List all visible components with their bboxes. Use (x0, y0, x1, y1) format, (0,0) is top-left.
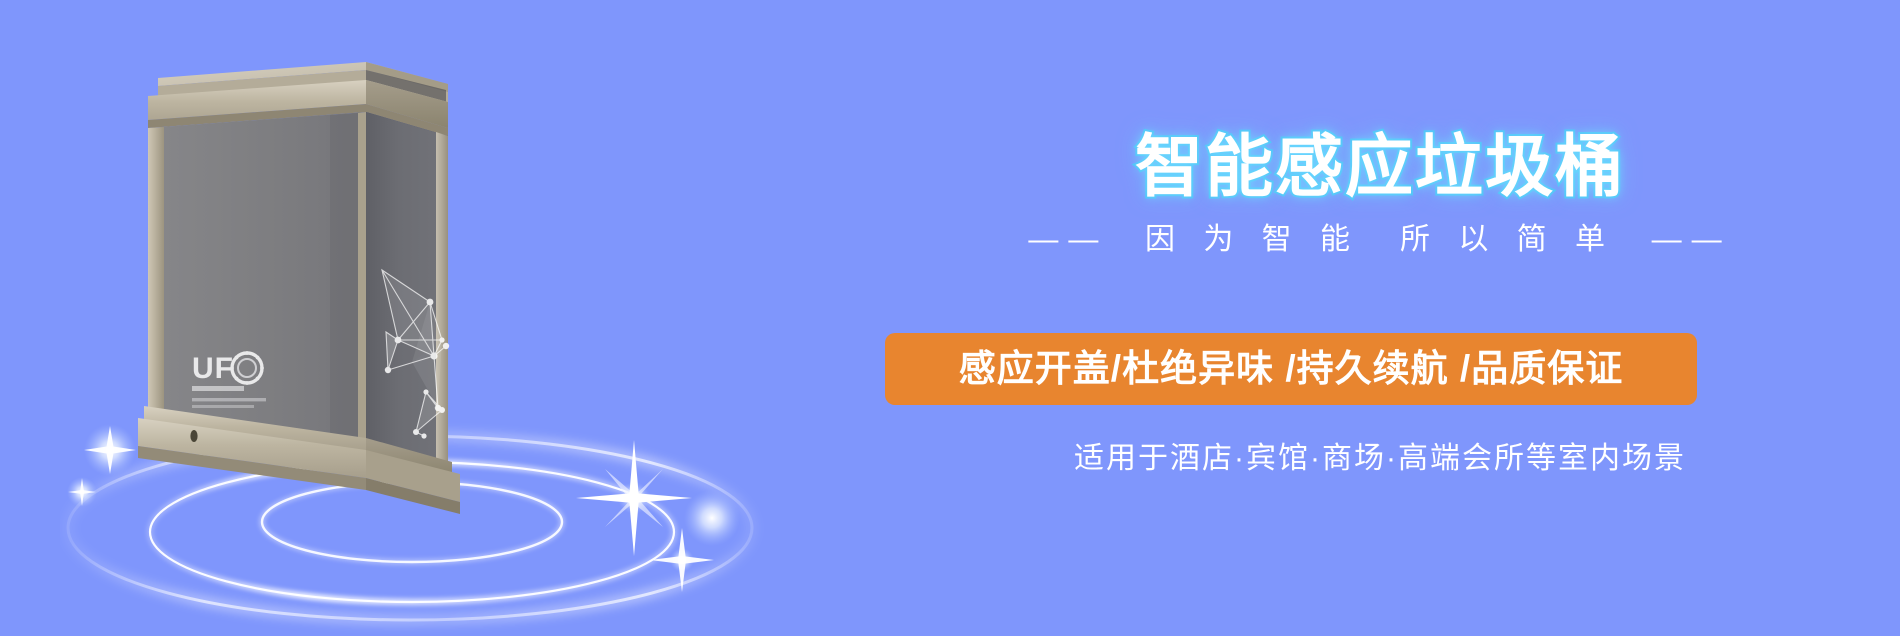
sparkle-left-top (84, 424, 136, 476)
page-title: 智能感应垃圾桶 (860, 128, 1900, 206)
sensor-port (190, 430, 197, 442)
subtitle-tagline: —— 因 为 智 能 所 以 简 单 —— (860, 218, 1900, 262)
product-stage: UF (0, 0, 860, 636)
feature-highlight-text: 感应开盖/杜绝异味 /持久续航 /品质保证 (959, 347, 1623, 391)
feature-highlight-strip: 感应开盖/杜绝异味 /持久续航 /品质保证 (885, 333, 1697, 405)
svg-text:UF: UF (192, 352, 234, 385)
copy-block: 智能感应垃圾桶 —— 因 为 智 能 所 以 简 单 —— 感应开盖/杜绝异味 … (860, 0, 1900, 636)
sparkle-left-low (67, 477, 97, 507)
usage-scenario-text: 适用于酒店·宾馆·商场·高端会所等室内场景 (860, 438, 1900, 480)
sparkle-right-edge (684, 490, 740, 546)
promo-banner: UF (0, 0, 1900, 636)
trash-bin-product-image: UF (130, 40, 690, 520)
main-title-text: 智能感应垃圾桶 (1135, 129, 1625, 205)
